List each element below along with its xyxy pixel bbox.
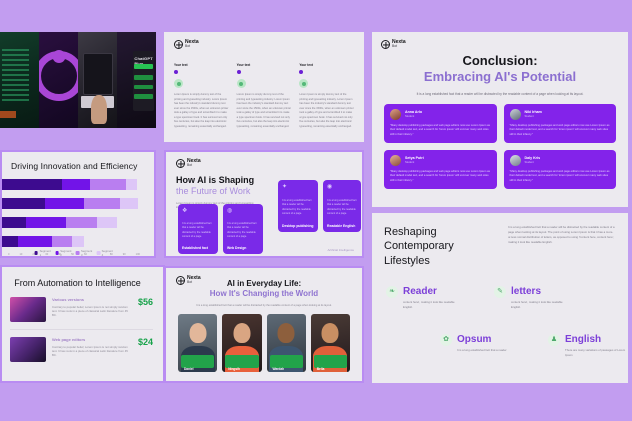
slide-three-columns[interactable]: Nexta Bot Your textLorem Ipsum is simply… [164,32,364,142]
leaf-icon [299,79,308,88]
feature-body: There are many variations of passages of… [565,348,627,358]
item-description: Contrary to popular belief, Lorem Ipsum … [52,305,132,318]
chart-legend: Segment 1Segment 2Segment 3Segment 4 [35,249,114,257]
laptop-icon [83,53,113,95]
bullet-dot-icon [237,70,241,74]
title-line-2: Embracing AI's Potential [372,69,628,85]
feature-heading: Opsum [457,334,519,345]
title-line-1: Conclusion: [372,53,628,69]
person-card[interactable]: BellaWriter [311,314,350,372]
person-name: Ningsih [228,367,240,371]
chart-bar-segment [2,198,45,209]
chart-bar-segment [120,198,138,209]
pricing-row[interactable]: Various versionsContrary to popular beli… [10,297,153,329]
pen-icon: ✎ [494,286,506,298]
photo-code-screen [0,32,39,128]
legend-swatch [35,251,38,255]
chart-bar-row [2,177,146,191]
avatar [390,155,401,166]
feature-item[interactable]: ✎letterscontent here!, making it look li… [494,286,573,310]
leaf-icon [174,79,183,88]
chart-bar-segment [45,198,85,209]
slide-chart[interactable]: Driving Innovation and Efficiency 010203… [0,150,156,258]
person-face [322,323,339,343]
person-name-bar: BellaWriter [314,355,347,368]
feature-item[interactable]: ✿OpsumIt is a long established fact that… [440,334,519,353]
person-face [189,323,206,343]
chart-bar-row [2,215,146,229]
person-name: Bella [317,367,325,371]
footer-label: Artificial Intelligence [327,248,354,252]
person-card[interactable]: NingsihCTO [222,314,261,372]
column-group: Your textLorem Ipsum is simply dummy tex… [164,57,364,129]
plan-panel: ChatGPT Plus [133,51,155,111]
person-name-bar: NingsihCTO [225,355,258,368]
testimonial-card[interactable]: Niki IrhamStudent"Many desktop publishin… [504,104,617,143]
slide-pricing[interactable]: From Automation to Intelligence Various … [0,265,165,383]
feature-heading: English [565,334,627,345]
card-label: Readable English [327,224,357,228]
slide-shaping-future[interactable]: Nexta Bot How AI is Shaping the Future o… [164,150,364,258]
brand-sub: Bot [185,45,199,48]
legend-label: Segment 2 [60,249,72,257]
hand-shape [91,95,107,124]
chart-bar-row [2,234,146,248]
slide-ai-photos[interactable]: ChatGPT Plus [0,32,156,128]
chart-bar-row [2,196,146,210]
feature-body: It is a long established fact that a rea… [457,348,519,353]
plan-bar [134,64,152,69]
chart-bar-segment [84,198,120,209]
leaf-icon: ❧ [386,286,398,298]
shaping-card[interactable]: ❖It is a long established fact that a re… [178,204,218,254]
slide-conclusion[interactable]: Nexta Bot Conclusion: Embracing AI's Pot… [372,32,628,207]
chart-bar-segment [2,236,18,247]
shield-icon: ❖ [182,208,189,215]
card-text: It is a long established fact that a rea… [282,199,314,216]
page-title: Conclusion: Embracing AI's Potential [372,53,628,86]
card-text: It is a long established fact that a rea… [182,222,214,239]
axis-tick-label: 0 [8,253,9,256]
pricing-row[interactable]: Web page editorsContrary to popular beli… [10,329,153,369]
plan-bar [134,94,152,99]
item-name: Various versions [52,297,132,302]
testimonial-quote: "Many desktop publishing packages and we… [390,170,491,184]
testimonial-card[interactable]: Setya PutriStudent"Many desktop publishi… [384,150,497,189]
openai-logo-icon [39,51,78,101]
bullet-dot-icon [174,70,178,74]
person-face [278,323,295,343]
chart-bar-segment [2,179,62,190]
target-icon [381,40,390,49]
pricing-list: Various versionsContrary to popular beli… [10,297,153,369]
slide-everyday-life[interactable]: Nexta Bot AI in Everyday Life: How It's … [164,266,364,383]
sparkle-icon: ✦ [282,184,289,191]
photo-laptop-hands [78,32,117,128]
shaping-card[interactable]: ✦It is a long established fact that a re… [278,180,318,232]
testimonial-role: Student [525,115,542,119]
testimonial-quote: "Many desktop publishing packages and we… [510,170,611,184]
content-column: Your textLorem Ipsum is simply dummy tex… [299,63,354,129]
chart-bar-segment [90,179,126,190]
legend-swatch [55,251,58,255]
chart-bar-segment [52,236,72,247]
testimonial-card[interactable]: Anna ArloStudent"Many desktop publishing… [384,104,497,143]
column-body: Lorem Ipsum is simply dummy text of the … [174,93,229,129]
user-icon: ♟ [548,334,560,346]
item-price: $56 [138,297,153,307]
photo-chatgpt-plus: ChatGPT Plus [117,32,156,128]
feature-heading: Reader [403,286,465,297]
content-column: Your textLorem Ipsum is simply dummy tex… [174,63,229,129]
leaf-icon [237,79,246,88]
page-paragraph: It is a long established fact that a rea… [508,225,616,268]
page-description: It is a long established fact that a rea… [180,304,348,307]
globe-icon: ◍ [227,208,234,215]
chart-bar-segment [72,236,85,247]
card-label: Desktop publishing [282,224,314,228]
presentation-board: ChatGPT Plus Driving Innovation and Effi… [0,0,632,421]
title-line: Contemporary [384,239,454,253]
feature-heading: letters [511,286,573,297]
chart-bar-segment [126,179,137,190]
feature-body: content here!, making it look like reada… [511,300,573,310]
title-line-1: How AI is Shaping [176,175,254,185]
person-face [233,323,250,343]
legend-item: Segment 3 [76,249,93,257]
page-title: Driving Innovation and Efficiency [11,161,154,171]
brand-sub: Bot [392,45,406,48]
card-label: Established fact [182,246,214,250]
column-body: Lorem Ipsum is simply dummy text of the … [237,93,292,129]
photo-row: ChatGPT Plus [0,32,156,128]
plan-bar [134,85,152,90]
chart-bar-segment [18,236,52,247]
avatar [390,109,401,120]
target-icon [174,40,183,49]
title-line-2: How It's Changing the World [166,289,362,299]
legend-swatch [76,251,79,255]
feature-group: ❧Readercontent here!, making it look lik… [372,286,628,378]
item-thumbnail [10,297,46,322]
column-body: Lorem Ipsum is simply dummy text of the … [299,93,354,129]
shaping-card[interactable]: ◍It is a long established fact that a re… [223,204,263,254]
card-text: It is a long established fact that a rea… [227,222,259,239]
gear-icon: ✿ [440,334,452,346]
legend-item: Segment 2 [55,249,72,257]
item-price: $24 [138,337,153,347]
item-description: Contrary to popular belief, Lorem Ipsum … [52,345,132,358]
legend-label: Segment 1 [40,249,52,257]
column-kicker: Your text [237,63,292,67]
chart-bar-segment [26,217,66,228]
testimonial-grid: Anna ArloStudent"Many desktop publishing… [372,96,628,189]
legend-item: Segment 1 [35,249,52,257]
brand-logo: Nexta Bot [381,40,628,49]
person-name-bar: WardahEngineer [270,355,303,368]
brand-sub: Bot [187,164,201,167]
target-icon [176,159,185,168]
item-thumbnail [10,337,46,362]
people-grid: DanielCEONingsihCTOWardahEngineerBellaWr… [166,307,362,372]
bulb-icon: ◉ [327,184,334,191]
testimonial-card[interactable]: Daly KrisStudent"Many desktop publishing… [504,150,617,189]
item-name: Web page editors [52,337,132,342]
reshaping-header: ReshapingContemporaryLifestyles It is a … [372,213,628,268]
legend-label: Segment 4 [102,249,114,257]
avatar [510,155,521,166]
brand-logo: Nexta Bot [176,276,201,285]
page-title: From Automation to Intelligence [2,278,153,288]
testimonial-quote: "Many desktop publishing packages and we… [390,124,491,138]
chart-bar-segment [62,179,90,190]
stacked-bar-chart: 0102030405060708090100Segment 1Segment 2… [2,177,146,253]
photo-openai-logo [39,32,78,128]
legend-label: Segment 3 [81,249,93,257]
axis-tick-label: 10 [19,253,22,256]
content-column: Your textLorem Ipsum is simply dummy tex… [237,63,292,129]
title-line: Lifestyles [384,254,454,268]
plan-bar [134,75,152,80]
legend-swatch [97,251,100,255]
person-card[interactable]: DanielCEO [178,314,217,372]
feature-item[interactable]: ❧Readercontent here!, making it look lik… [386,286,465,310]
person-card[interactable]: WardahEngineer [267,314,306,372]
feature-body: content here!, making it look like reada… [403,300,465,310]
column-kicker: Your text [174,63,229,67]
card-text: It is a long established fact that a rea… [327,199,357,216]
testimonial-role: Student [405,115,422,119]
person-name: Wardah [273,367,285,371]
bullet-dot-icon [299,70,303,74]
card-label: Web Design [227,246,259,250]
column-kicker: Your text [299,63,354,67]
person-name-bar: DanielCEO [181,355,214,368]
person-name: Daniel [184,367,194,371]
avatar [510,109,521,120]
testimonial-name: Anna Arlo [405,110,422,115]
testimonial-quote: "Many desktop publishing packages and we… [510,124,611,138]
shaping-card[interactable]: ◉It is a long established fact that a re… [323,180,361,232]
title-line: Reshaping [384,225,454,239]
legend-item: Segment 4 [97,249,114,257]
testimonial-role: Student [405,161,424,165]
brand-logo: Nexta Bot [174,40,364,49]
chart-bar-segment [66,217,97,228]
page-title: ReshapingContemporaryLifestyles [384,225,454,268]
testimonial-role: Student [525,161,541,165]
chart-bar-segment [2,217,26,228]
brand-logo: Nexta Bot [176,159,362,168]
feature-item[interactable]: ♟EnglishThere are many variations of pas… [548,334,627,358]
testimonial-name: Niki Irham [525,110,542,115]
page-description: It is a long established fact that a rea… [394,92,606,96]
slide-reshaping[interactable]: ReshapingContemporaryLifestyles It is a … [372,213,628,383]
chart-bar-segment [97,217,117,228]
axis-tick-label: 90 [123,253,126,256]
target-icon [176,276,185,285]
brand-sub: Bot [187,281,201,284]
axis-tick-label: 100 [136,253,140,256]
